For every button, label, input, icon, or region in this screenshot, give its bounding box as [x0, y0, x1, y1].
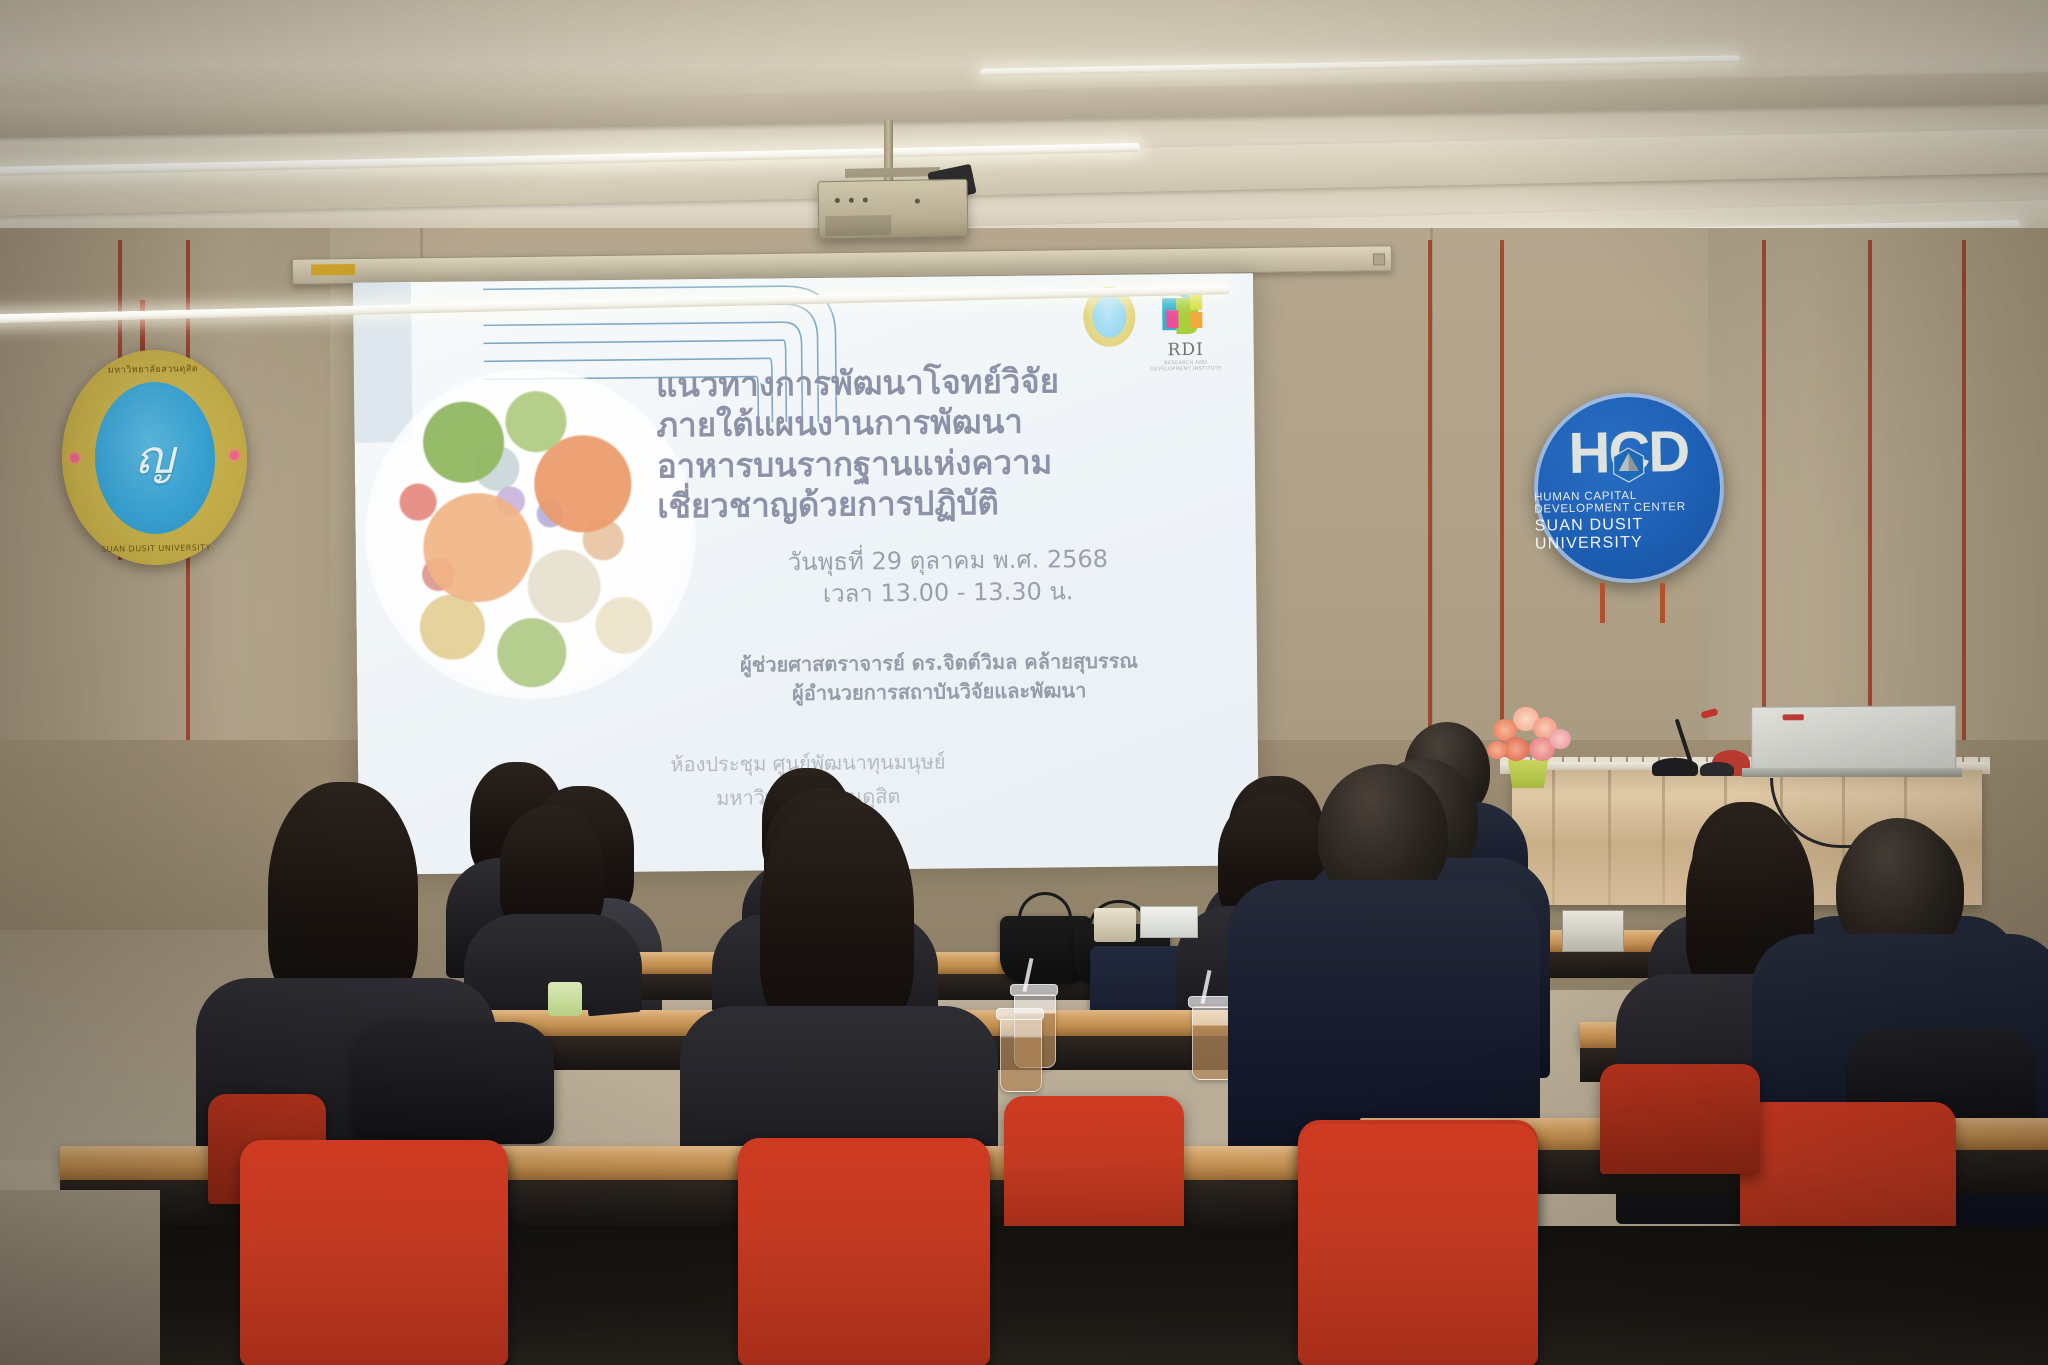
auditorium-chair-foreground[interactable] — [738, 1138, 990, 1365]
hcd-subtitle-2: SUAN DUSIT UNIVERSITY — [1535, 514, 1726, 553]
microphone-base — [1652, 758, 1698, 776]
slide-title: แนวทางการพัฒนาโจทย์วิจัย ภายใต้แผนงานการ… — [656, 359, 1238, 526]
desk-item-cup — [548, 982, 582, 1016]
auditorium-chair[interactable] — [1004, 1096, 1184, 1246]
open-laptop[interactable] — [1751, 705, 1956, 771]
ceiling-beam — [0, 128, 2048, 217]
laptop-badge — [1783, 714, 1804, 720]
ceiling-strip-light — [980, 55, 1740, 75]
auditorium-chair-foreground[interactable] — [240, 1140, 508, 1365]
wall-accent-stripe — [1868, 240, 1872, 780]
slide-time-line: เวลา 13.00 - 13.30 น. — [658, 574, 1238, 612]
seal-flower-icon — [228, 448, 241, 461]
food-illustration — [364, 367, 697, 700]
slide-title-line: ภายใต้แผนงานการพัฒนา — [656, 400, 1236, 446]
floor — [0, 1190, 160, 1365]
desk-item-cup — [1094, 908, 1136, 942]
hcd-subtitle-1: HUMAN CAPITAL DEVELOPMENT CENTER — [1534, 488, 1724, 515]
housing-endcap — [1373, 253, 1385, 265]
speaker-role: ผู้อำนวยการสถาบันวิจัยและพัฒนา — [629, 674, 1249, 709]
hexagon-icon — [1608, 445, 1649, 486]
backpack — [354, 1022, 554, 1144]
slide-speaker-block: ผู้ช่วยศาสตราจารย์ ดร.จิตต์วิมล คล้ายสุบ… — [629, 645, 1250, 709]
desk-item-block — [1562, 910, 1624, 952]
auditorium-chair-foreground[interactable] — [1298, 1124, 1538, 1365]
auditorium-chair[interactable] — [1600, 1064, 1760, 1174]
microphone-base — [1700, 762, 1734, 776]
slide-title-line: แนวทางการพัฒนาโจทย์วิจัย — [656, 359, 1236, 405]
ceiling-beam — [0, 71, 2048, 138]
desk-item-box — [1140, 906, 1198, 938]
seal-inner-field: ญ — [93, 380, 216, 534]
flower-arrangement — [1487, 705, 1573, 767]
ceiling-projector — [818, 179, 969, 240]
hcd-sign-leg — [1600, 583, 1605, 623]
slide-datetime: วันพุธที่ 29 ตุลาคม พ.ศ. 2568 เวลา 13.00… — [658, 541, 1239, 612]
laptop-keyboard-base[interactable] — [1742, 768, 1962, 777]
seal-hanging-strap — [140, 300, 145, 356]
ceiling — [0, 0, 2048, 250]
wall-accent-stripe — [1762, 240, 1766, 780]
hcd-sign-leg — [1660, 583, 1665, 623]
wall-accent-stripe — [1962, 240, 1966, 800]
conference-room-photo: มหาวิทยาลัยสวนดุสิต ญ SUAN DUSIT UNIVERS… — [0, 0, 2048, 1365]
slide-title-line: อาหารบนรากฐานแห่งความ — [657, 440, 1237, 486]
housing-label — [311, 264, 355, 276]
projector-panel — [825, 215, 891, 236]
seal-flower-icon — [68, 451, 81, 464]
seal-monogram-icon: ญ — [135, 436, 175, 478]
slide-title-line: เชี่ยวชาญด้วยการปฏิบัติ — [657, 480, 1237, 526]
drink-cup — [1000, 1018, 1042, 1092]
rdi-text: RDI — [1148, 340, 1224, 361]
